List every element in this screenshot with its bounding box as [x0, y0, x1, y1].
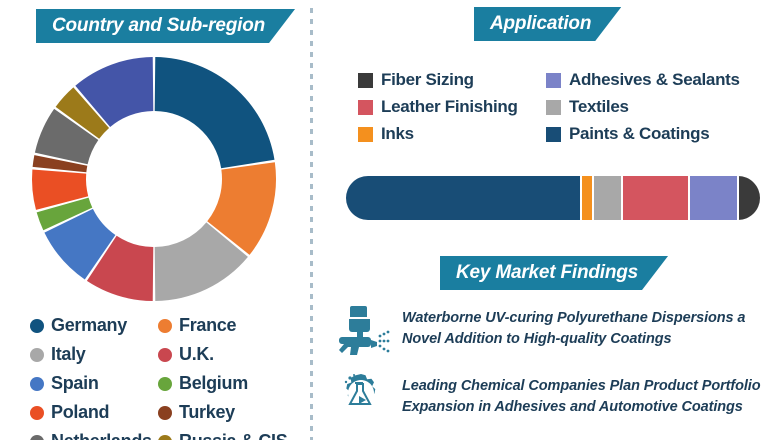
legend-color-dot [30, 319, 44, 333]
application-legend: Fiber SizingAdhesives & SealantsLeather … [358, 68, 758, 146]
donut-slice-germany [155, 57, 275, 168]
bar-segment-adhesives-sealants [690, 176, 740, 220]
legend-label: Adhesives & Sealants [569, 70, 740, 90]
donut-chart-country [14, 48, 294, 310]
finding-item: Leading Chemical Companies Plan Product … [332, 368, 780, 426]
legend-label: Netherlands [51, 431, 152, 440]
country-legend: GermanyFranceItalyU.K.SpainBelgiumPoland… [30, 312, 306, 440]
legend-label: Turkey [179, 402, 235, 423]
banner-findings-title: Key Market Findings [456, 262, 638, 284]
legend-color-swatch [546, 73, 561, 88]
legend-item-italy: Italy [30, 341, 158, 368]
donut-chart-svg [14, 48, 294, 310]
application-stacked-bar [346, 176, 760, 220]
legend-label: Inks [381, 124, 414, 144]
legend-color-dot [158, 377, 172, 391]
legend-label: Russia & CIS [179, 431, 287, 440]
legend-label: Belgium [179, 373, 248, 394]
legend-color-dot [158, 319, 172, 333]
legend-label: Germany [51, 315, 127, 336]
legend-color-swatch [358, 73, 373, 88]
legend-color-dot [158, 348, 172, 362]
legend-label: Paints & Coatings [569, 124, 709, 144]
legend-label: France [179, 315, 236, 336]
legend-item-u-k: U.K. [158, 341, 306, 368]
legend-item-belgium: Belgium [158, 370, 306, 397]
spray-gun-icon [332, 300, 390, 358]
legend-item-spain: Spain [30, 370, 158, 397]
legend-item-russia-cis: Russia & CIS [158, 428, 306, 440]
legend-item-netherlands: Netherlands [30, 428, 158, 440]
legend-color-swatch [546, 127, 561, 142]
bar-segment-fiber-sizing [739, 176, 760, 220]
key-market-findings-list: Waterborne UV-curing Polyurethane Disper… [332, 300, 780, 436]
bar-segment-paints-coatings [346, 176, 582, 220]
legend-item-france: France [158, 312, 306, 339]
legend-label: U.K. [179, 344, 214, 365]
legend-color-dot [158, 406, 172, 420]
bar-segment-leather-finishing [623, 176, 689, 220]
legend-item-germany: Germany [30, 312, 158, 339]
legend-label: Poland [51, 402, 109, 423]
app-legend-item-leather-finishing: Leather Finishing [358, 95, 546, 119]
app-legend-item-textiles: Textiles [546, 95, 758, 119]
legend-color-swatch [546, 100, 561, 115]
legend-color-dot [30, 348, 44, 362]
legend-label: Fiber Sizing [381, 70, 474, 90]
bar-segment-textiles [594, 176, 623, 220]
app-legend-item-fiber-sizing: Fiber Sizing [358, 68, 546, 92]
banner-country-and-sub-region: Country and Sub-region [36, 9, 295, 43]
vertical-divider [310, 8, 313, 440]
legend-color-dot [30, 406, 44, 420]
legend-color-dot [30, 435, 44, 440]
banner-application-title: Application [490, 13, 591, 35]
app-legend-item-inks: Inks [358, 122, 546, 146]
legend-label: Leather Finishing [381, 97, 518, 117]
legend-color-swatch [358, 100, 373, 115]
legend-item-turkey: Turkey [158, 399, 306, 426]
legend-color-swatch [358, 127, 373, 142]
gear-flask-icon [332, 368, 390, 426]
finding-text: Leading Chemical Companies Plan Product … [402, 368, 780, 417]
app-legend-item-paints-coatings: Paints & Coatings [546, 122, 758, 146]
legend-label: Spain [51, 373, 99, 394]
legend-color-dot [158, 435, 172, 440]
legend-label: Textiles [569, 97, 629, 117]
bar-segment-inks [582, 176, 594, 220]
donut-slice-group [32, 57, 276, 301]
finding-item: Waterborne UV-curing Polyurethane Disper… [332, 300, 780, 358]
legend-item-poland: Poland [30, 399, 158, 426]
finding-text: Waterborne UV-curing Polyurethane Disper… [402, 300, 780, 349]
infographic-page: Country and Sub-region GermanyFranceItal… [0, 0, 780, 440]
app-legend-item-adhesives-sealants: Adhesives & Sealants [546, 68, 758, 92]
banner-key-market-findings: Key Market Findings [440, 256, 668, 290]
banner-country-title: Country and Sub-region [52, 15, 265, 37]
banner-application: Application [474, 7, 621, 41]
legend-label: Italy [51, 344, 86, 365]
legend-color-dot [30, 377, 44, 391]
